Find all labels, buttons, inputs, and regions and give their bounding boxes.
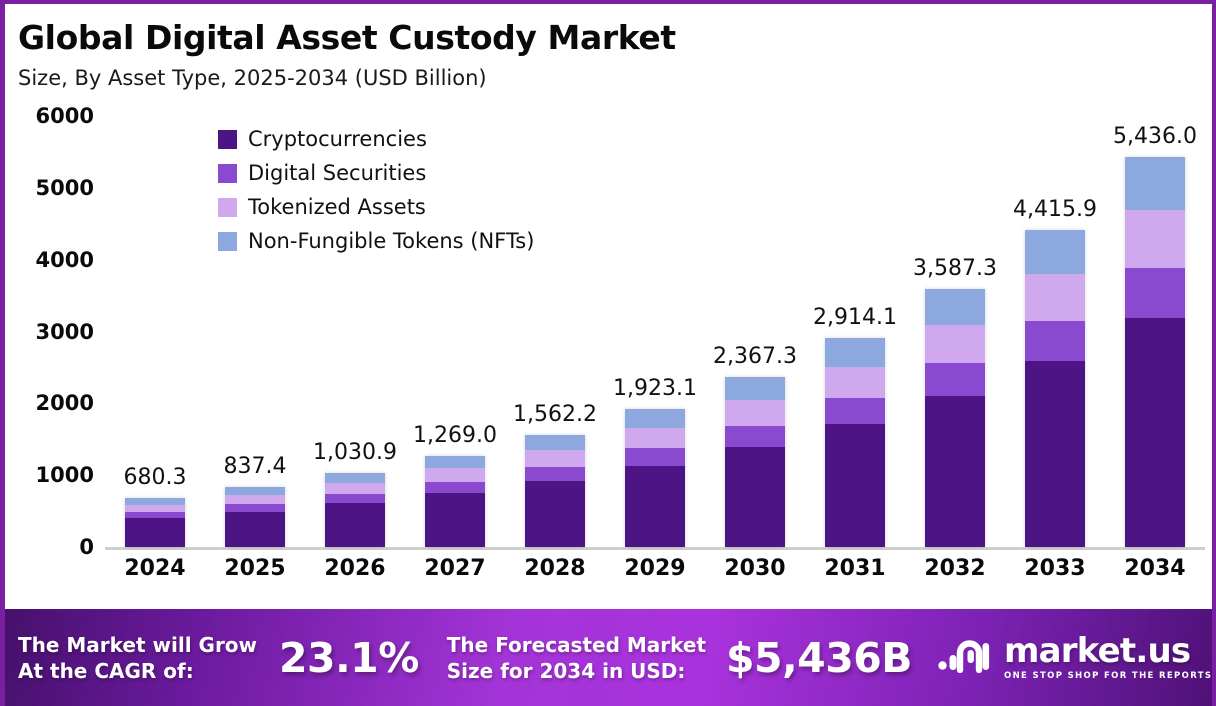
x-axis-tick: 2026: [305, 556, 405, 581]
bar-group[interactable]: 680.3: [105, 116, 205, 547]
bar-segment[interactable]: [925, 289, 985, 325]
y-axis-tick: 0: [79, 535, 94, 559]
x-axis-tick: 2032: [905, 556, 1005, 581]
legend-swatch-icon: [218, 130, 237, 149]
bar-segment[interactable]: [925, 363, 985, 396]
bar-segment[interactable]: [1125, 318, 1185, 547]
bar-total-label: 2,914.1: [813, 305, 897, 330]
bar-segment[interactable]: [725, 426, 785, 447]
bar-segment[interactable]: [1125, 210, 1185, 268]
cagr-label-line2: At the CAGR of:: [18, 658, 257, 684]
legend-item[interactable]: Tokenized Assets: [218, 196, 534, 218]
bar-segment[interactable]: [725, 377, 785, 400]
x-axis-tick: 2034: [1105, 556, 1205, 581]
legend-label: Digital Securities: [248, 161, 426, 185]
cagr-label: The Market will Grow At the CAGR of:: [18, 632, 257, 684]
cagr-label-line1: The Market will Grow: [18, 632, 257, 658]
brand-name: market.us: [1004, 634, 1212, 668]
y-axis-tick: 4000: [36, 248, 94, 272]
forecast-value: $5,436B: [726, 634, 912, 682]
bar-segment[interactable]: [825, 398, 885, 424]
x-axis-tick: 2033: [1005, 556, 1105, 581]
legend-item[interactable]: Digital Securities: [218, 162, 534, 184]
bar-total-label: 3,587.3: [913, 256, 997, 281]
legend-item[interactable]: Cryptocurrencies: [218, 128, 534, 150]
y-axis-tick: 3000: [36, 320, 94, 344]
x-axis-tick: 2025: [205, 556, 305, 581]
bar-total-label: 1,923.1: [613, 376, 697, 401]
legend-swatch-icon: [218, 232, 237, 251]
bar-segment[interactable]: [1125, 157, 1185, 211]
bar-segment[interactable]: [525, 481, 585, 547]
bar-segment[interactable]: [1025, 230, 1085, 274]
bar-segment[interactable]: [225, 495, 285, 504]
chart-legend: CryptocurrenciesDigital SecuritiesTokeni…: [218, 128, 534, 252]
x-axis-tick: 2029: [605, 556, 705, 581]
y-axis-tick: 2000: [36, 391, 94, 415]
bar-segment[interactable]: [425, 482, 485, 493]
x-axis: 2024202520262027202820292030203120322033…: [105, 556, 1205, 581]
bar-segment[interactable]: [225, 512, 285, 547]
legend-swatch-icon: [218, 198, 237, 217]
chart-plot-area: 0100020003000400050006000 680.3837.41,03…: [5, 116, 1212, 606]
cagr-value: 23.1%: [279, 634, 419, 682]
legend-label: Non-Fungible Tokens (NFTs): [248, 229, 534, 253]
bar-segment[interactable]: [325, 503, 385, 547]
bar-group[interactable]: 5,436.0: [1105, 116, 1205, 547]
forecast-label-line2: Size for 2034 in USD:: [447, 658, 706, 684]
bar-segment[interactable]: [1125, 268, 1185, 317]
bar-segment[interactable]: [525, 467, 585, 481]
bar-stack[interactable]: [1125, 157, 1185, 547]
x-axis-tick: 2028: [505, 556, 605, 581]
bar-segment[interactable]: [225, 504, 285, 512]
brand-text: market.us ONE STOP SHOP FOR THE REPORTS: [1004, 634, 1212, 681]
bar-segment[interactable]: [625, 428, 685, 448]
bar-segment[interactable]: [825, 367, 885, 398]
bar-segment[interactable]: [225, 487, 285, 495]
bar-stack[interactable]: [525, 435, 585, 547]
legend-swatch-icon: [218, 164, 237, 183]
bar-total-label: 680.3: [124, 465, 187, 490]
bar-segment[interactable]: [625, 409, 685, 428]
forecast-label: The Forecasted Market Size for 2034 in U…: [447, 632, 706, 684]
bar-total-label: 1,030.9: [313, 440, 397, 465]
bar-stack[interactable]: [1025, 230, 1085, 547]
page-title: Global Digital Asset Custody Market: [18, 18, 1018, 58]
bar-stack[interactable]: [225, 487, 285, 547]
bar-segment[interactable]: [1025, 321, 1085, 361]
bar-group[interactable]: 3,587.3: [905, 116, 1005, 547]
bar-segment[interactable]: [625, 448, 685, 465]
bar-total-label: 1,562.2: [513, 402, 597, 427]
bar-segment[interactable]: [525, 435, 585, 450]
legend-label: Tokenized Assets: [248, 195, 426, 219]
bar-segment[interactable]: [125, 518, 185, 547]
brand-logo: market.us ONE STOP SHOP FOR THE REPORTS: [938, 634, 1212, 681]
bar-stack[interactable]: [725, 377, 785, 547]
chart-subtitle: Size, By Asset Type, 2025-2034 (USD Bill…: [18, 63, 1018, 93]
bar-group[interactable]: 1,923.1: [605, 116, 705, 547]
bar-total-label: 837.4: [224, 454, 287, 479]
header: Global Digital Asset Custody Market Size…: [18, 18, 1018, 93]
bar-group[interactable]: 4,415.9: [1005, 116, 1105, 547]
y-axis: 0100020003000400050006000: [5, 116, 100, 550]
bar-segment[interactable]: [1025, 361, 1085, 547]
bar-stack[interactable]: [925, 289, 985, 547]
bar-segment[interactable]: [825, 424, 885, 547]
bar-stack[interactable]: [125, 498, 185, 547]
bar-segment[interactable]: [325, 483, 385, 494]
bar-segment[interactable]: [1025, 274, 1085, 321]
bar-segment[interactable]: [825, 338, 885, 367]
bar-segment[interactable]: [125, 505, 185, 512]
infographic-root: Global Digital Asset Custody Market Size…: [0, 0, 1216, 706]
bar-group[interactable]: 2,914.1: [805, 116, 905, 547]
x-axis-tick: 2030: [705, 556, 805, 581]
brand-tagline: ONE STOP SHOP FOR THE REPORTS: [1004, 671, 1212, 681]
bar-segment[interactable]: [925, 396, 985, 547]
bar-segment[interactable]: [325, 473, 385, 483]
bar-total-label: 5,436.0: [1113, 124, 1197, 149]
bar-segment[interactable]: [425, 493, 485, 547]
bar-stack[interactable]: [325, 473, 385, 547]
y-axis-tick: 5000: [36, 176, 94, 200]
bar-segment[interactable]: [725, 400, 785, 425]
bar-segment[interactable]: [425, 456, 485, 469]
x-axis-tick: 2027: [405, 556, 505, 581]
bar-segment[interactable]: [325, 494, 385, 503]
bar-stack[interactable]: [625, 409, 685, 547]
bar-total-label: 1,269.0: [413, 423, 497, 448]
bar-segment[interactable]: [725, 447, 785, 547]
bar-total-label: 2,367.3: [713, 344, 797, 369]
footer-banner: The Market will Grow At the CAGR of: 23.…: [0, 609, 1216, 706]
bar-segment[interactable]: [425, 468, 485, 482]
bar-segment[interactable]: [125, 498, 185, 505]
x-axis-tick: 2031: [805, 556, 905, 581]
bar-stack[interactable]: [425, 456, 485, 547]
legend-label: Cryptocurrencies: [248, 127, 427, 151]
forecast-label-line1: The Forecasted Market: [447, 632, 706, 658]
legend-item[interactable]: Non-Fungible Tokens (NFTs): [218, 230, 534, 252]
bar-group[interactable]: 2,367.3: [705, 116, 805, 547]
bar-segment[interactable]: [625, 466, 685, 547]
bar-segment[interactable]: [525, 450, 585, 467]
market-us-logo-icon: [938, 639, 994, 677]
x-axis-line: [105, 547, 1205, 550]
y-axis-tick: 6000: [36, 104, 94, 128]
x-axis-tick: 2024: [105, 556, 205, 581]
bar-stack[interactable]: [825, 338, 885, 547]
y-axis-tick: 1000: [36, 463, 94, 487]
bar-segment[interactable]: [925, 325, 985, 363]
bar-total-label: 4,415.9: [1013, 197, 1097, 222]
